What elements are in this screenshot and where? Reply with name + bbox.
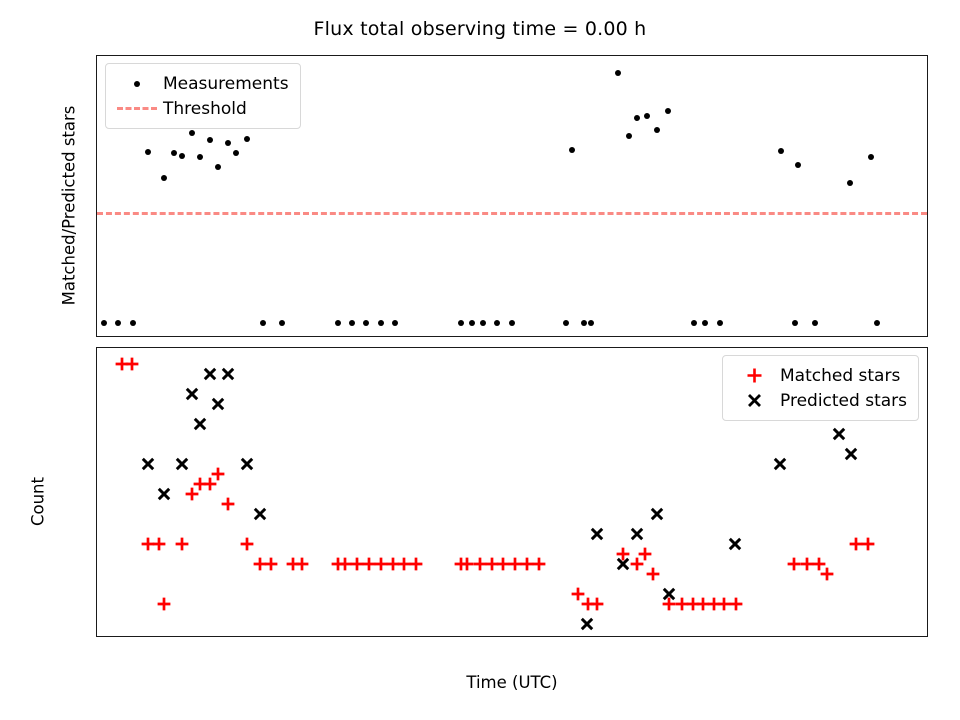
data-point-measurement: [378, 320, 384, 326]
plus-marker-icon: [732, 367, 776, 384]
data-point-measurement: [115, 320, 121, 326]
data-point-predicted-star: [140, 456, 156, 472]
y-tick-mark: [96, 404, 97, 405]
data-point-matched-star: [811, 556, 827, 572]
data-point-matched-star: [330, 556, 346, 572]
x-tick-mark: [512, 336, 513, 337]
data-point-matched-star: [695, 596, 711, 612]
data-point-predicted-star: [210, 396, 226, 412]
data-point-measurement: [225, 140, 231, 146]
data-point-matched-star: [570, 586, 586, 602]
data-point-matched-star: [786, 556, 802, 572]
data-point-measurement: [778, 148, 784, 154]
data-point-matched-star: [637, 546, 653, 562]
data-point-matched-star: [124, 356, 140, 372]
data-point-matched-star: [661, 596, 677, 612]
y-tick-mark: [96, 323, 97, 324]
data-point-measurement: [469, 320, 475, 326]
y-tick-mark: [96, 143, 97, 144]
data-point-measurement: [244, 136, 250, 142]
x-tick-mark: [312, 636, 313, 637]
data-point-matched-star: [589, 596, 605, 612]
data-point-predicted-star: [661, 586, 677, 602]
dot-marker-icon: [115, 81, 159, 87]
x-tick-mark: [612, 336, 613, 337]
data-point-measurement: [207, 137, 213, 143]
data-point-predicted-star: [649, 506, 665, 522]
data-point-measurement: [494, 320, 500, 326]
data-point-matched-star: [615, 546, 631, 562]
data-point-predicted-star: [220, 366, 236, 382]
data-point-matched-star: [495, 556, 511, 572]
data-point-measurement: [581, 320, 587, 326]
data-point-matched-star: [114, 356, 130, 372]
x-tick-mark: [911, 636, 912, 637]
x-tick-mark: [412, 336, 413, 337]
data-point-measurement: [812, 320, 818, 326]
data-point-matched-star: [674, 596, 690, 612]
data-point-matched-star: [174, 536, 190, 552]
data-point-matched-star: [685, 596, 701, 612]
data-point-matched-star: [396, 556, 412, 572]
data-point-predicted-star: [174, 456, 190, 472]
data-point-matched-star: [507, 556, 523, 572]
data-point-predicted-star: [184, 386, 200, 402]
legend-item-predicted-stars[interactable]: Predicted stars: [732, 388, 907, 413]
data-point-matched-star: [156, 596, 172, 612]
data-point-predicted-star: [252, 506, 268, 522]
data-point-measurement: [847, 180, 853, 186]
data-point-measurement: [179, 153, 185, 159]
data-point-measurement: [588, 320, 594, 326]
data-point-matched-star: [706, 596, 722, 612]
data-point-matched-star: [202, 476, 218, 492]
data-point-measurement: [279, 320, 285, 326]
data-point-predicted-star: [843, 446, 859, 462]
data-point-measurement: [335, 320, 341, 326]
data-point-measurement: [480, 320, 486, 326]
y-tick-mark: [96, 188, 97, 189]
data-point-matched-star: [629, 556, 645, 572]
x-axis-label: Time (UTC): [96, 673, 928, 692]
data-point-measurement: [644, 113, 650, 119]
figure-canvas: Flux total observing time = 0.00 h 0.00.…: [0, 0, 960, 720]
data-point-matched-star: [819, 566, 835, 582]
data-point-predicted-star: [831, 426, 847, 442]
data-point-matched-star: [220, 496, 236, 512]
legend-item-threshold[interactable]: Threshold: [115, 96, 289, 121]
data-point-matched-star: [519, 556, 535, 572]
data-point-measurement: [101, 320, 107, 326]
x-tick-mark: [113, 336, 114, 337]
data-point-predicted-star: [629, 526, 645, 542]
x-tick-mark: [213, 636, 214, 637]
x-tick-mark: [412, 636, 413, 637]
x-tick-mark: [113, 636, 114, 637]
x-tick-mark: [811, 336, 812, 337]
dashed-line-icon: [115, 107, 159, 110]
y-tick-mark: [96, 278, 97, 279]
data-point-predicted-star: [202, 366, 218, 382]
data-point-matched-star: [349, 556, 365, 572]
legend-item-matched-stars[interactable]: Matched stars: [732, 363, 907, 388]
x-tick-mark: [712, 336, 713, 337]
data-point-predicted-star: [615, 556, 631, 572]
data-point-predicted-star: [579, 616, 595, 632]
data-point-measurement: [392, 320, 398, 326]
data-point-matched-star: [210, 466, 226, 482]
count-legend[interactable]: Matched stars Predicted stars: [722, 355, 919, 421]
data-point-measurement: [161, 175, 167, 181]
data-point-matched-star: [728, 596, 744, 612]
data-point-measurement: [171, 150, 177, 156]
data-point-matched-star: [385, 556, 401, 572]
data-point-matched-star: [337, 556, 353, 572]
x-tick-mark: [911, 336, 912, 337]
data-point-predicted-star: [156, 486, 172, 502]
data-point-matched-star: [860, 536, 876, 552]
y-tick-mark: [96, 454, 97, 455]
ratio-y-axis-label: Matched/Predicted stars: [60, 65, 79, 347]
figure-title: Flux total observing time = 0.00 h: [0, 18, 960, 40]
x-marker-icon: [732, 392, 776, 409]
data-point-measurement: [874, 320, 880, 326]
data-point-matched-star: [373, 556, 389, 572]
legend-label-predicted-stars: Predicted stars: [776, 391, 907, 411]
data-point-matched-star: [285, 556, 301, 572]
legend-label-threshold: Threshold: [159, 99, 247, 119]
data-point-matched-star: [184, 486, 200, 502]
data-point-measurement: [626, 133, 632, 139]
data-point-matched-star: [459, 556, 475, 572]
data-point-measurement: [717, 320, 723, 326]
x-tick-mark: [312, 336, 313, 337]
y-tick-mark: [96, 604, 97, 605]
y-tick-mark: [96, 354, 97, 355]
data-point-matched-star: [294, 556, 310, 572]
y-tick-mark: [96, 99, 97, 100]
data-point-measurement: [634, 115, 640, 121]
data-point-measurement: [702, 320, 708, 326]
data-point-matched-star: [192, 476, 208, 492]
legend-label-measurements: Measurements: [159, 74, 289, 94]
data-point-measurement: [654, 127, 660, 133]
y-tick-mark: [96, 233, 97, 234]
data-point-measurement: [233, 150, 239, 156]
data-point-measurement: [363, 320, 369, 326]
data-point-measurement: [665, 108, 671, 114]
y-tick-mark: [96, 554, 97, 555]
data-point-measurement: [795, 162, 801, 168]
threshold-line: [97, 212, 927, 215]
x-tick-mark: [712, 636, 713, 637]
data-point-matched-star: [453, 556, 469, 572]
data-point-matched-star: [263, 556, 279, 572]
data-point-matched-star: [472, 556, 488, 572]
legend-item-measurements[interactable]: Measurements: [115, 71, 289, 96]
data-point-measurement: [349, 320, 355, 326]
data-point-matched-star: [151, 536, 167, 552]
data-point-measurement: [197, 154, 203, 160]
data-point-matched-star: [645, 566, 661, 582]
ratio-plot-axes: 0.00.20.40.60.81.0 Measurements Threshol…: [96, 55, 928, 337]
y-tick-mark: [96, 504, 97, 505]
data-point-matched-star: [361, 556, 377, 572]
data-point-measurement: [615, 70, 621, 76]
data-point-measurement: [145, 149, 151, 155]
data-point-measurement: [458, 320, 464, 326]
data-point-measurement: [792, 320, 798, 326]
data-point-matched-star: [484, 556, 500, 572]
data-point-matched-star: [140, 536, 156, 552]
data-point-matched-star: [408, 556, 424, 572]
data-point-predicted-star: [589, 526, 605, 542]
count-plot-axes: 202530354045 18:3019:0019:3020:0020:3021…: [96, 347, 928, 637]
data-point-measurement: [868, 154, 874, 160]
x-tick-mark: [512, 636, 513, 637]
data-point-matched-star: [239, 536, 255, 552]
data-point-measurement: [189, 130, 195, 136]
data-point-predicted-star: [239, 456, 255, 472]
ratio-legend[interactable]: Measurements Threshold: [105, 63, 301, 129]
data-point-measurement: [509, 320, 515, 326]
data-point-matched-star: [531, 556, 547, 572]
data-point-measurement: [130, 320, 136, 326]
data-point-matched-star: [848, 536, 864, 552]
data-point-measurement: [215, 164, 221, 170]
data-point-measurement: [569, 147, 575, 153]
data-point-matched-star: [252, 556, 268, 572]
x-tick-mark: [612, 636, 613, 637]
count-y-axis-label: Count: [29, 357, 48, 647]
data-point-matched-star: [716, 596, 732, 612]
data-point-predicted-star: [192, 416, 208, 432]
data-point-predicted-star: [727, 536, 743, 552]
data-point-matched-star: [799, 556, 815, 572]
legend-label-matched-stars: Matched stars: [776, 366, 900, 386]
data-point-measurement: [563, 320, 569, 326]
data-point-matched-star: [580, 596, 596, 612]
data-point-predicted-star: [772, 456, 788, 472]
data-point-measurement: [691, 320, 697, 326]
data-point-measurement: [260, 320, 266, 326]
x-tick-mark: [811, 636, 812, 637]
x-tick-mark: [213, 336, 214, 337]
